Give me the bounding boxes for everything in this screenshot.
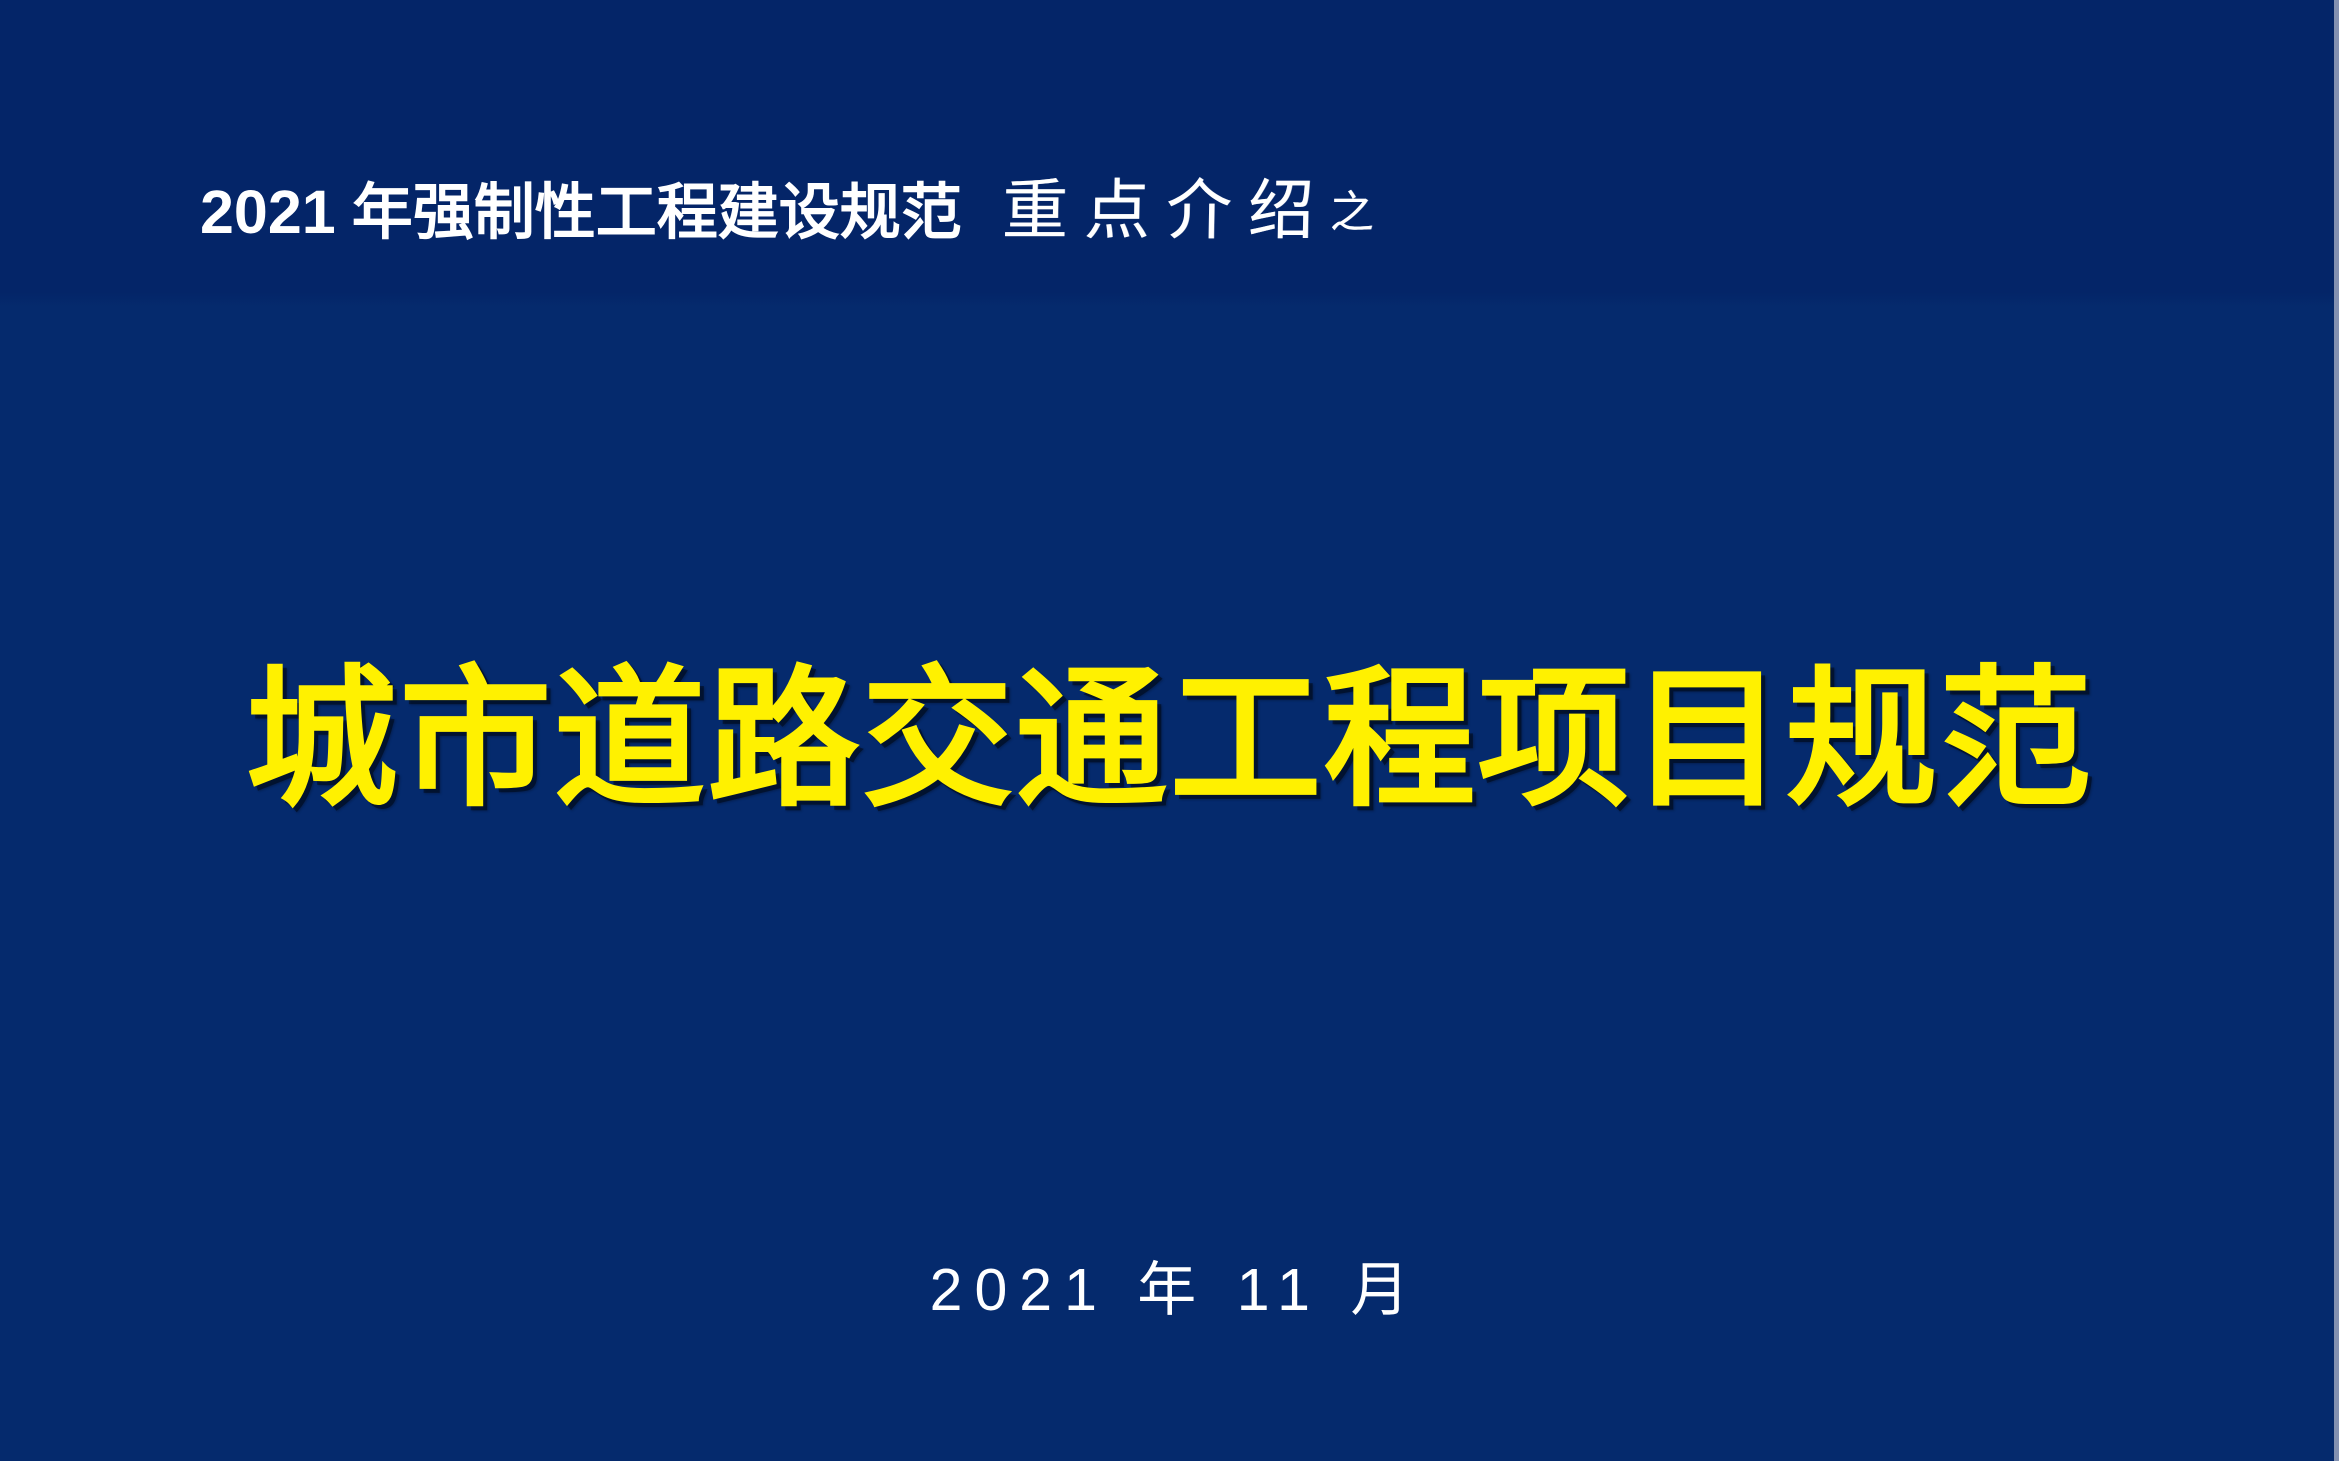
presentation-title-slide: 2021 年强制性工程建设规范 重点介绍 之 城市道路交通工程项目规范 2021… bbox=[0, 0, 2339, 1461]
slide-header: 2021 年强制性工程建设规范 重点介绍 之 bbox=[200, 178, 2100, 288]
frame-right-edge bbox=[2334, 0, 2339, 1461]
header-year: 2021 bbox=[200, 182, 336, 243]
header-emphasis-text: 重点介绍 bbox=[1001, 178, 1330, 244]
header-connector-text: 之 bbox=[1330, 191, 1374, 235]
slide-date: 2021 年 11 月 bbox=[0, 1258, 2339, 1323]
page-title: 城市道路交通工程项目规范 bbox=[0, 655, 2339, 825]
header-series-text: 年强制性工程建设规范 bbox=[352, 182, 962, 243]
